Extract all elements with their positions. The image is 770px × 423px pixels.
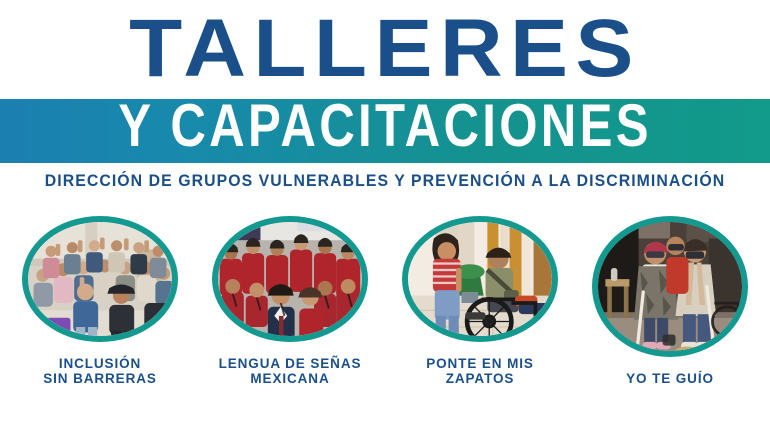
workshop-card-lengua-de-senas[interactable]: LENGUA DE SEÑAS MEXICANA (210, 216, 370, 386)
white-cane-walk-photo (598, 222, 742, 351)
workshop-caption-3: PONTE EN MIS ZAPATOS (426, 356, 534, 386)
department-subtitle: DIRECCIÓN DE GRUPOS VULNERABLES Y PREVEN… (15, 172, 754, 190)
photo-circle-1 (22, 216, 178, 342)
photo-circle-2 (212, 216, 368, 342)
workshop-card-ponte-en-mis-zapatos[interactable]: PONTE EN MIS ZAPATOS (400, 216, 560, 386)
group-photo-auditorium (28, 222, 172, 336)
group-photo-red-uniforms (218, 222, 362, 336)
wheelchair-hallway-photo (408, 222, 552, 336)
workshop-caption-2: LENGUA DE SEÑAS MEXICANA (219, 356, 362, 386)
page-title: TALLERES (0, 8, 770, 90)
workshop-caption-1: INCLUSIÓN SIN BARRERAS (43, 356, 157, 386)
poster-canvas: TALLERES Y CAPACITACIONES DIRECCIÓN DE G… (0, 0, 770, 423)
workshop-caption-4: YO TE GUÍO (626, 371, 714, 386)
workshop-card-yo-te-guio[interactable]: YO TE GUÍO (590, 216, 750, 386)
workshop-cards-row: INCLUSIÓN SIN BARRERAS (0, 216, 770, 386)
photo-circle-3 (402, 216, 558, 342)
photo-circle-4 (592, 216, 748, 357)
page-subtitle-banner: Y CAPACITACIONES (69, 93, 700, 159)
workshop-card-inclusion-sin-barreras[interactable]: INCLUSIÓN SIN BARRERAS (20, 216, 180, 386)
